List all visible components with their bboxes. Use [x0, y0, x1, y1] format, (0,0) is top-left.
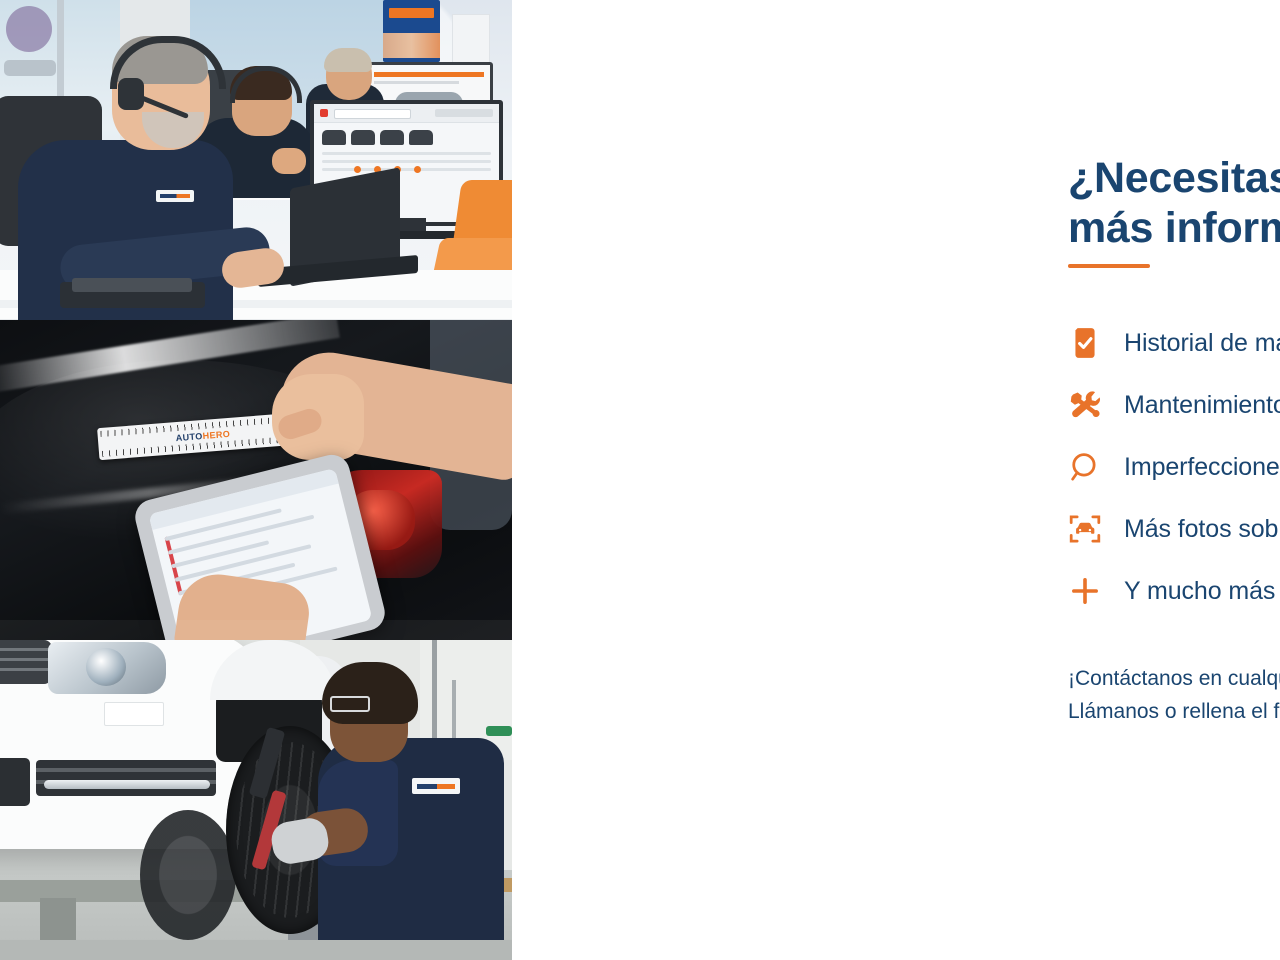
page-title: ¿Necesitas más información? [1068, 153, 1280, 254]
photo-vehicle-inspection-with-autohero-ruler: AUTOHERO [0, 320, 512, 640]
feature-label: Y mucho más [1124, 577, 1275, 606]
car-focus-frame-icon [1068, 512, 1124, 546]
magnifier-icon [1068, 450, 1124, 484]
car-headlight [48, 642, 166, 694]
headline-line-2: más información? [1068, 203, 1280, 253]
mechanic-hair [322, 662, 418, 724]
tools-wrench-screwdriver-icon [1068, 388, 1124, 422]
autohero-polo-logo [412, 778, 460, 794]
car-chrome-trim [44, 780, 210, 789]
headline-line-1: ¿Necesitas [1068, 154, 1280, 202]
wall-poster-photo [383, 33, 440, 58]
feature-item-maintenance-done: Mantenimiento realizado [1068, 374, 1280, 436]
photo-column: AUTOHERO [0, 0, 512, 960]
feature-item-imperfections: Imperfecciones [1068, 436, 1280, 498]
contact-line-2: Llámanos o rellena el formulario de cont… [1068, 695, 1280, 728]
feature-item-more-photos: Más fotos sobre el coche [1068, 498, 1280, 560]
workshop-green-item [486, 726, 512, 736]
floor-light [0, 620, 512, 640]
feature-label: Más fotos sobre el coche [1124, 515, 1280, 544]
car-lower-grille [36, 760, 216, 796]
desk-notebook [72, 278, 192, 292]
photo-mechanic-changing-wheel-on-lifted-car [0, 640, 512, 960]
workshop-floor [0, 940, 512, 960]
agent-3-hair [324, 48, 372, 72]
car-lower-grille-side [0, 758, 30, 806]
photo-call-center-agents-with-headsets [0, 0, 512, 320]
wall-notice-sheet [452, 14, 490, 66]
mechanic-glasses [330, 696, 370, 712]
plus-icon [1068, 574, 1124, 608]
feature-label: Historial de mantenimientos [1124, 329, 1280, 358]
contact-line-1: ¡Contáctanos en cualquier momento para m… [1068, 662, 1280, 695]
ruler-logo-hero: HERO [202, 429, 230, 441]
feature-item-maintenance-history: Historial de mantenimientos [1068, 312, 1280, 374]
feature-label: Mantenimiento realizado [1124, 391, 1280, 420]
headlight-lens [86, 648, 126, 686]
car-licence-plate-blank [104, 702, 164, 726]
promo-page: AUTOHERO [0, 0, 1280, 960]
title-divider [1068, 264, 1150, 268]
feature-list: Historial de mantenimientos Mantenimient… [1068, 312, 1280, 622]
feature-item-much-more: Y mucho más [1068, 560, 1280, 622]
car-inner-wheel [140, 810, 236, 940]
outdoor-tree [6, 6, 52, 52]
car-side-grille [0, 640, 52, 684]
outdoor-car [4, 60, 56, 76]
contact-paragraph: ¡Contáctanos en cualquier momento para m… [1068, 662, 1280, 728]
feature-label: Imperfecciones [1124, 453, 1280, 482]
document-check-icon [1068, 326, 1124, 360]
autohero-polo-logo [156, 190, 194, 202]
agent-2-hand [272, 148, 306, 174]
content-panel: ¿Necesitas más información? Estamos enca… [512, 0, 1280, 960]
ruler-logo-auto: AUTO [175, 431, 203, 443]
